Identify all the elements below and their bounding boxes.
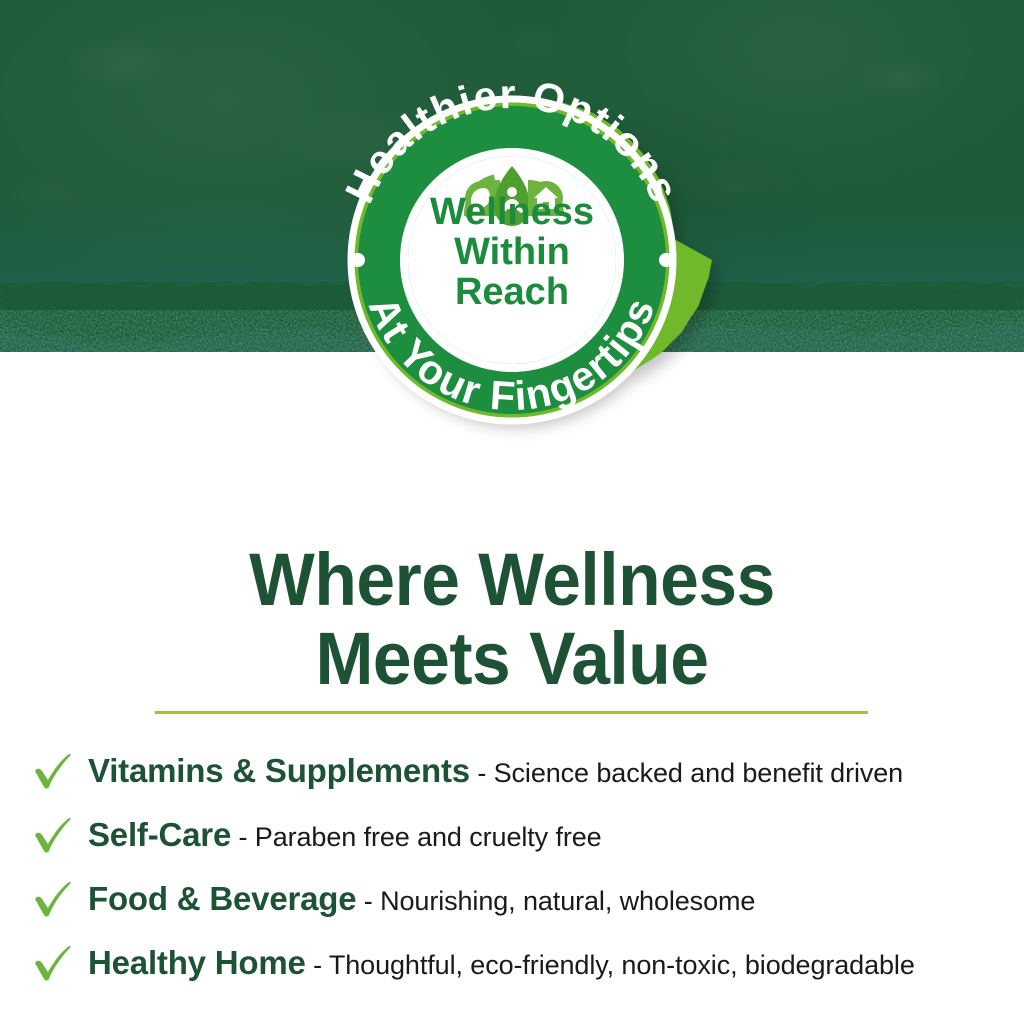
list-item-desc: - Thoughtful, eco-friendly, non-toxic, b… [306, 950, 915, 980]
wellness-badge-seal: Healthier Options At Your Fingertips [310, 58, 714, 462]
list-item-title: Food & Beverage [88, 880, 356, 917]
benefits-list: Vitamins & Supplements - Science backed … [0, 738, 1024, 994]
badge-separator-dot-right [659, 253, 673, 267]
list-item: Healthy Home - Thoughtful, eco-friendly,… [0, 930, 1024, 994]
list-item-text: Food & Beverage - Nourishing, natural, w… [88, 882, 755, 915]
badge-separator-dot-left [351, 253, 365, 267]
list-item-desc: - Nourishing, natural, wholesome [356, 886, 755, 916]
checkmark-icon [30, 875, 76, 921]
page-title: Where Wellness Meets Value [31, 540, 994, 698]
promo-banner: Healthier Options At Your Fingertips [0, 0, 1024, 1024]
headline-line-2: Meets Value [31, 619, 994, 698]
list-item-title: Vitamins & Supplements [88, 752, 470, 789]
checkmark-icon [30, 747, 76, 793]
list-item-text: Vitamins & Supplements - Science backed … [88, 754, 903, 787]
list-item-desc: - Science backed and benefit driven [470, 758, 903, 788]
list-item-text: Healthy Home - Thoughtful, eco-friendly,… [88, 946, 915, 979]
badge-center-line-1: Wellness [430, 191, 594, 233]
headline-line-1: Where Wellness [31, 540, 994, 619]
badge-center-line-3: Reach [455, 271, 569, 313]
list-item-desc: - Paraben free and cruelty free [231, 822, 602, 852]
checkmark-icon [30, 811, 76, 857]
list-item: Food & Beverage - Nourishing, natural, w… [0, 866, 1024, 930]
badge-center-line-2: Within [454, 231, 570, 273]
list-item-title: Healthy Home [88, 944, 306, 981]
checkmark-icon [30, 939, 76, 985]
list-item: Self-Care - Paraben free and cruelty fre… [0, 802, 1024, 866]
headline-divider [155, 711, 868, 714]
list-item-title: Self-Care [88, 816, 231, 853]
list-item: Vitamins & Supplements - Science backed … [0, 738, 1024, 802]
list-item-text: Self-Care - Paraben free and cruelty fre… [88, 818, 602, 851]
